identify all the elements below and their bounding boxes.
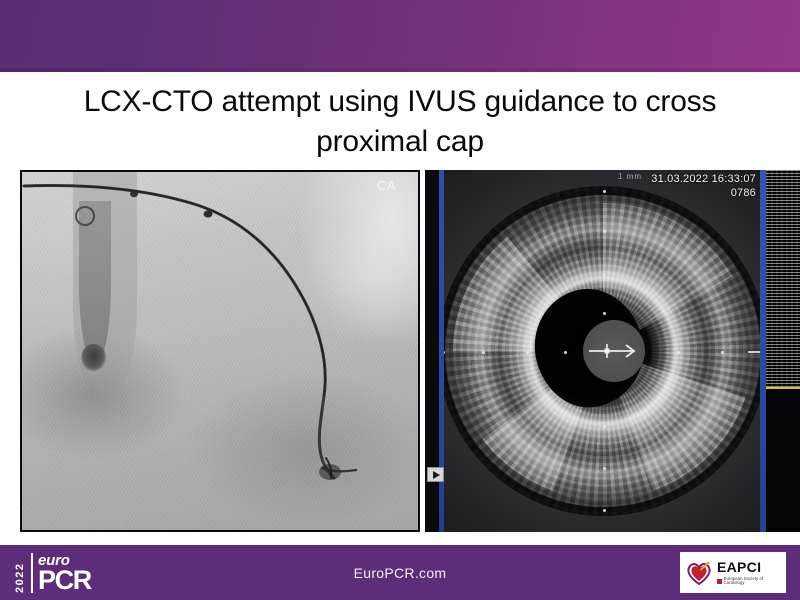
slide-root: LCX-CTO attempt using IVUS guidance to c… xyxy=(0,0,800,600)
eapci-heart-icon xyxy=(686,560,712,586)
ivus-scale-label: 1 mm xyxy=(618,172,642,181)
eapci-logo: EAPCI European Society of Cardiology xyxy=(680,552,786,593)
header-band xyxy=(0,0,800,72)
ivus-longitudinal-view[interactable] xyxy=(766,170,800,532)
eapci-text-block: EAPCI European Society of Cardiology xyxy=(717,560,780,585)
ivus-tick-mark xyxy=(603,509,606,512)
ivus-tick-mark xyxy=(564,351,567,354)
ivus-tick-mark xyxy=(603,230,606,233)
ivus-catheter-artifact xyxy=(583,320,645,382)
ivus-tick-mark xyxy=(677,351,680,354)
page-title: LCX-CTO attempt using IVUS guidance to c… xyxy=(40,82,760,161)
ivus-position-indicator xyxy=(748,351,760,353)
header-underline xyxy=(0,68,800,72)
ivus-measurement-arrow-icon xyxy=(587,340,641,362)
ivus-longitudinal-marker xyxy=(766,387,800,389)
ivus-tick-mark xyxy=(603,467,606,470)
ivus-frame-number: 0786 xyxy=(651,187,756,201)
ivus-tick-mark xyxy=(482,351,485,354)
eapci-subtitle-row: European Society of Cardiology xyxy=(717,577,780,585)
ivus-readout: 31.03.2022 16:33:07 0786 xyxy=(651,173,756,201)
ivus-datetime: 31.03.2022 16:33:07 xyxy=(651,173,756,187)
ivus-panel[interactable]: 1 mm 31.03.2022 16:33:07 0786 xyxy=(425,170,800,532)
ivus-tick-mark xyxy=(721,351,724,354)
ivus-tick-mark xyxy=(526,351,529,354)
esc-mark-icon xyxy=(717,579,722,584)
ivus-tick-mark xyxy=(603,425,606,428)
ivus-tick-mark xyxy=(603,190,606,193)
media-row: CA xyxy=(0,170,800,532)
angiogram-corner-label: CA xyxy=(377,178,396,193)
play-triangle-icon xyxy=(433,471,440,479)
play-icon[interactable] xyxy=(427,467,444,482)
eapci-subtitle: European Society of Cardiology xyxy=(724,577,780,585)
footer-band: 2022 euro PCR EuroPCR.com EAPCI European… xyxy=(0,545,800,600)
ivus-tick-mark xyxy=(603,274,606,277)
angiogram-panel[interactable]: CA xyxy=(20,170,420,532)
angiogram-image: CA xyxy=(22,172,418,530)
ivus-tick-mark xyxy=(603,312,606,315)
eapci-name: EAPCI xyxy=(717,560,780,574)
ivus-longitudinal-tissue xyxy=(766,170,800,387)
ivus-cross-section xyxy=(438,186,768,516)
ivus-background: 1 mm xyxy=(443,170,762,532)
angiogram-guidewire xyxy=(22,172,418,530)
